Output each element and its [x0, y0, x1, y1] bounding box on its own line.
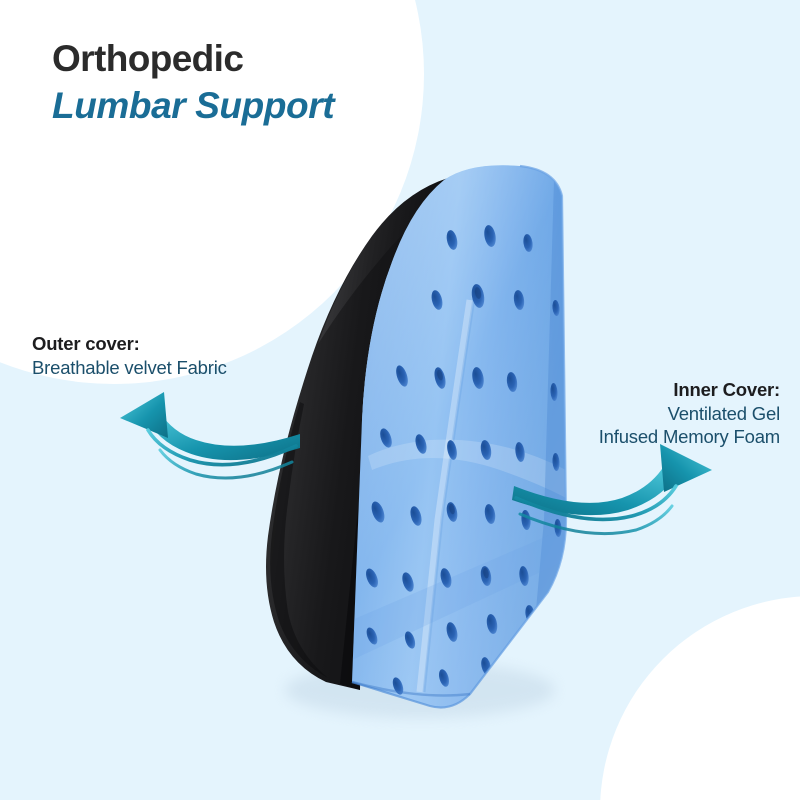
callout-outer-cover-title: Outer cover:: [32, 332, 227, 356]
callout-outer-cover-description: Breathable velvet Fabric: [32, 356, 227, 380]
arrow-outer-cover: [120, 392, 300, 478]
callout-outer-cover: Outer cover: Breathable velvet Fabric: [32, 332, 227, 379]
callout-inner-cover-title: Inner Cover:: [599, 378, 780, 402]
callout-inner-cover-description-line-2: Infused Memory Foam: [599, 425, 780, 449]
callout-inner-cover-description-line-1: Ventilated Gel: [599, 402, 780, 426]
page-title: Orthopedic Lumbar Support: [52, 40, 334, 124]
callout-inner-cover: Inner Cover: Ventilated Gel Infused Memo…: [599, 378, 780, 449]
title-line-primary: Orthopedic: [52, 40, 334, 77]
arrow-inner-cover: [512, 444, 712, 534]
title-line-accent: Lumbar Support: [52, 87, 334, 124]
infographic-canvas: Orthopedic Lumbar Support Outer cover: B…: [0, 0, 800, 800]
